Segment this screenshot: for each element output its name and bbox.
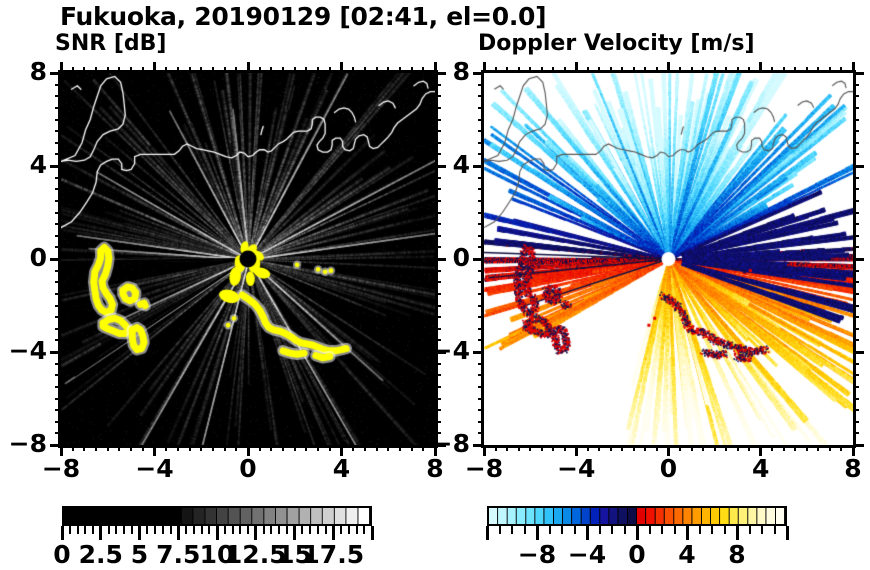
x-tick	[817, 67, 819, 73]
x-tick	[518, 67, 520, 73]
y-tick	[853, 386, 859, 388]
y-tick	[435, 421, 441, 423]
x-tick	[564, 445, 566, 451]
y-tick	[435, 293, 441, 295]
snr-colorbar-gradient	[62, 506, 372, 526]
x-tick	[633, 445, 635, 451]
y-tick	[478, 246, 484, 248]
x-tick-label: 0	[218, 454, 278, 483]
y-tick-label: 4	[0, 150, 47, 179]
y-tick-label: −8	[416, 429, 470, 458]
y-tick	[478, 398, 484, 400]
snr-colorbar-tick	[208, 526, 210, 534]
x-tick	[771, 445, 773, 451]
y-tick	[478, 421, 484, 423]
x-tick	[130, 445, 132, 451]
y-tick-label: 4	[416, 150, 470, 179]
doppler-colorbar-tick	[649, 526, 651, 534]
doppler-colorbar-tick	[686, 526, 689, 540]
snr-plot-panel[interactable]	[58, 70, 438, 448]
x-tick	[118, 67, 120, 73]
x-tick	[399, 67, 401, 73]
y-tick	[55, 200, 61, 202]
x-tick	[771, 67, 773, 73]
snr-colorbar[interactable]	[62, 506, 392, 526]
y-tick	[55, 177, 61, 179]
x-tick	[667, 62, 670, 73]
y-tick	[55, 293, 61, 295]
x-tick	[829, 445, 831, 451]
y-tick	[478, 339, 484, 341]
snr-colorbar-tick	[146, 526, 148, 534]
snr-colorbar-tick	[270, 526, 272, 534]
x-tick	[644, 445, 646, 451]
x-tick	[411, 445, 413, 451]
snr-colorbar-tick	[92, 526, 94, 534]
y-tick-label: 0	[0, 243, 47, 272]
x-tick	[118, 445, 120, 451]
snr-colorbar-tick	[131, 526, 133, 534]
x-tick	[541, 445, 543, 451]
y-tick	[55, 281, 61, 283]
x-tick	[107, 67, 109, 73]
y-tick	[55, 339, 61, 341]
y-tick	[853, 421, 859, 423]
y-tick	[853, 200, 859, 202]
doppler-colorbar-tick	[749, 526, 751, 534]
x-tick	[72, 445, 74, 451]
y-tick	[853, 328, 859, 330]
y-tick	[55, 363, 61, 365]
y-tick	[853, 142, 859, 144]
y-tick	[473, 258, 484, 261]
panel-title-snr: SNR [dB]	[55, 31, 166, 56]
y-tick-label: 0	[416, 243, 470, 272]
x-tick	[598, 445, 600, 451]
y-tick	[55, 223, 61, 225]
y-tick	[478, 374, 484, 376]
x-tick	[340, 62, 343, 73]
y-tick	[853, 235, 859, 237]
y-tick	[55, 270, 61, 272]
y-tick	[55, 235, 61, 237]
y-tick	[478, 107, 484, 109]
y-tick	[853, 72, 864, 75]
y-tick	[853, 177, 859, 179]
x-tick	[364, 445, 366, 451]
y-tick	[478, 212, 484, 214]
snr-colorbar-tick	[123, 526, 125, 534]
snr-colorbar-tick	[224, 526, 226, 534]
x-tick	[364, 67, 366, 73]
snr-colorbar-tick	[301, 526, 303, 534]
snr-colorbar-tick	[138, 526, 141, 540]
doppler-colorbar-tick	[636, 526, 639, 540]
y-tick	[478, 223, 484, 225]
x-tick	[387, 445, 389, 451]
y-tick	[55, 316, 61, 318]
x-tick	[247, 62, 250, 73]
x-tick	[737, 67, 739, 73]
y-tick	[435, 386, 441, 388]
x-tick-label: 4	[731, 454, 791, 483]
y-tick	[435, 200, 441, 202]
snr-colorbar-tick	[193, 526, 195, 534]
snr-colorbar-tick	[84, 526, 86, 534]
y-tick	[55, 84, 61, 86]
y-tick-label: −4	[416, 336, 470, 365]
x-tick	[200, 445, 202, 451]
snr-colorbar-tick	[154, 526, 156, 534]
y-tick	[55, 130, 61, 132]
snr-colorbar-tick	[185, 526, 187, 534]
y-tick	[473, 72, 484, 75]
snr-colorbar-tick	[317, 526, 319, 534]
x-tick	[691, 67, 693, 73]
x-tick	[806, 67, 808, 73]
y-tick	[478, 119, 484, 121]
x-tick	[518, 445, 520, 451]
panel-title-doppler: Doppler Velocity [m/s]	[478, 31, 755, 56]
x-tick	[189, 67, 191, 73]
doppler-colorbar-tick	[661, 526, 663, 534]
x-tick	[621, 445, 623, 451]
x-tick	[495, 67, 497, 73]
snr-radar-image	[61, 73, 435, 445]
y-tick	[55, 212, 61, 214]
x-tick	[702, 445, 704, 451]
snr-colorbar-tick	[162, 526, 164, 534]
y-tick	[853, 444, 864, 447]
x-tick	[725, 67, 727, 73]
x-tick-label: −4	[546, 454, 606, 483]
y-tick	[55, 119, 61, 121]
y-tick	[853, 409, 859, 411]
x-tick	[564, 67, 566, 73]
x-tick	[541, 67, 543, 73]
y-tick-label: 8	[0, 57, 47, 86]
x-tick	[294, 67, 296, 73]
doppler-colorbar-tick	[511, 526, 513, 534]
snr-colorbar-tick	[356, 526, 358, 534]
x-tick	[748, 67, 750, 73]
snr-colorbar-tick	[293, 526, 296, 540]
y-tick	[55, 386, 61, 388]
doppler-colorbar-tick	[524, 526, 526, 534]
y-tick	[55, 246, 61, 248]
x-tick	[212, 445, 214, 451]
x-tick	[259, 67, 261, 73]
x-tick	[691, 445, 693, 451]
x-tick	[411, 67, 413, 73]
y-tick	[435, 107, 441, 109]
x-tick	[748, 445, 750, 451]
x-tick	[587, 67, 589, 73]
x-tick	[817, 445, 819, 451]
doppler-colorbar-tick	[574, 526, 576, 534]
doppler-colorbar-tick	[724, 526, 726, 534]
x-tick-label: −4	[125, 454, 185, 483]
x-tick	[552, 445, 554, 451]
x-tick	[806, 445, 808, 451]
x-tick	[714, 445, 716, 451]
doppler-colorbar-tick	[561, 526, 563, 534]
x-tick-label: 8	[823, 454, 870, 483]
x-tick	[235, 67, 237, 73]
x-tick	[270, 445, 272, 451]
y-tick	[853, 374, 859, 376]
x-tick	[107, 445, 109, 451]
x-tick	[552, 67, 554, 73]
x-tick	[189, 445, 191, 451]
x-tick	[783, 67, 785, 73]
y-tick	[853, 258, 864, 261]
x-tick	[305, 445, 307, 451]
y-tick	[435, 305, 441, 307]
doppler-colorbar-label: 8	[703, 540, 771, 569]
x-tick	[495, 445, 497, 451]
x-tick	[352, 67, 354, 73]
x-tick	[506, 445, 508, 451]
doppler-colorbar-tick	[786, 526, 789, 540]
x-tick	[212, 67, 214, 73]
doppler-colorbar-tick	[499, 526, 501, 534]
x-tick	[224, 67, 226, 73]
doppler-colorbar-tick	[611, 526, 613, 534]
y-tick	[478, 270, 484, 272]
x-tick	[840, 67, 842, 73]
y-tick	[853, 130, 859, 132]
x-tick	[270, 67, 272, 73]
y-tick	[435, 328, 441, 330]
y-tick	[853, 398, 859, 400]
doppler-radar-image	[484, 73, 853, 445]
x-tick	[317, 67, 319, 73]
x-tick	[376, 445, 378, 451]
y-tick	[853, 165, 864, 168]
y-tick	[55, 95, 61, 97]
y-tick	[853, 246, 859, 248]
y-tick	[473, 444, 484, 447]
y-tick	[853, 223, 859, 225]
x-tick	[376, 67, 378, 73]
snr-colorbar-tick	[247, 526, 249, 534]
y-tick	[435, 212, 441, 214]
doppler-colorbar-tick	[549, 526, 551, 534]
y-tick-label: 8	[416, 57, 470, 86]
y-tick	[478, 153, 484, 155]
doppler-colorbar-tick	[486, 526, 489, 540]
y-tick	[435, 130, 441, 132]
y-tick	[435, 235, 441, 237]
x-tick	[83, 67, 85, 73]
x-tick	[83, 445, 85, 451]
y-tick	[435, 316, 441, 318]
x-tick	[587, 445, 589, 451]
snr-colorbar-tick	[69, 526, 71, 534]
doppler-colorbar-tick	[599, 526, 601, 534]
snr-colorbar-tick	[363, 526, 365, 534]
snr-colorbar-tick	[239, 526, 241, 534]
x-tick	[783, 445, 785, 451]
y-tick	[853, 339, 859, 341]
x-tick	[575, 62, 578, 73]
x-tick	[679, 445, 681, 451]
x-tick	[130, 67, 132, 73]
x-tick	[840, 445, 842, 451]
y-tick	[478, 305, 484, 307]
x-tick	[387, 67, 389, 73]
y-tick-label: −4	[0, 336, 47, 365]
x-tick	[702, 67, 704, 73]
x-tick	[644, 67, 646, 73]
doppler-colorbar-tick	[774, 526, 776, 534]
y-tick	[50, 444, 61, 447]
y-tick	[853, 153, 859, 155]
x-tick	[529, 445, 531, 451]
snr-colorbar-tick	[61, 526, 64, 540]
y-tick	[55, 142, 61, 144]
x-tick	[529, 67, 531, 73]
x-tick	[177, 67, 179, 73]
x-tick-label: 0	[639, 454, 699, 483]
snr-colorbar-tick	[348, 526, 350, 534]
y-tick	[853, 363, 859, 365]
y-tick	[853, 119, 859, 121]
y-tick	[50, 72, 61, 75]
y-tick	[478, 235, 484, 237]
y-tick	[853, 305, 859, 307]
y-tick	[478, 142, 484, 144]
x-tick	[142, 445, 144, 451]
y-tick	[55, 398, 61, 400]
y-tick	[473, 351, 484, 354]
y-tick	[55, 328, 61, 330]
y-tick	[435, 398, 441, 400]
x-tick	[506, 67, 508, 73]
x-tick	[305, 67, 307, 73]
snr-colorbar-label: 17.5	[299, 540, 367, 569]
snr-colorbar-tick	[325, 526, 327, 534]
snr-colorbar-tick	[340, 526, 342, 534]
snr-colorbar-tick	[263, 526, 265, 534]
y-tick	[55, 305, 61, 307]
x-tick	[829, 67, 831, 73]
y-tick	[50, 258, 61, 261]
x-tick	[317, 445, 319, 451]
y-tick	[55, 409, 61, 411]
snr-colorbar-tick	[170, 526, 172, 534]
x-tick	[656, 67, 658, 73]
x-tick	[177, 445, 179, 451]
y-tick	[478, 293, 484, 295]
doppler-colorbar[interactable]	[472, 506, 802, 526]
y-tick	[853, 95, 859, 97]
y-tick-label: −8	[0, 429, 47, 458]
snr-colorbar-tick	[108, 526, 110, 534]
x-tick	[633, 67, 635, 73]
doppler-colorbar-tick	[761, 526, 763, 534]
x-tick	[794, 445, 796, 451]
snr-colorbar-tick	[216, 526, 219, 540]
x-tick	[329, 445, 331, 451]
y-tick	[478, 386, 484, 388]
y-tick	[853, 281, 859, 283]
x-tick-label: 4	[312, 454, 372, 483]
x-tick	[282, 67, 284, 73]
y-tick	[435, 142, 441, 144]
snr-colorbar-tick	[99, 526, 102, 540]
x-tick	[95, 67, 97, 73]
x-tick	[610, 445, 612, 451]
snr-colorbar-tick	[278, 526, 280, 534]
x-tick	[598, 67, 600, 73]
x-tick	[621, 67, 623, 73]
y-tick	[435, 119, 441, 121]
x-tick	[165, 445, 167, 451]
doppler-colorbar-tick	[624, 526, 626, 534]
x-tick	[656, 445, 658, 451]
y-tick	[478, 363, 484, 365]
x-tick	[679, 67, 681, 73]
y-tick	[435, 409, 441, 411]
y-tick	[435, 374, 441, 376]
y-tick	[435, 188, 441, 190]
snr-colorbar-tick	[232, 526, 234, 534]
x-tick	[235, 445, 237, 451]
doppler-colorbar-tick	[711, 526, 713, 534]
y-tick	[478, 316, 484, 318]
y-tick	[853, 432, 859, 434]
y-tick	[50, 351, 61, 354]
x-tick	[294, 445, 296, 451]
y-tick	[478, 281, 484, 283]
x-tick	[352, 445, 354, 451]
y-tick	[478, 188, 484, 190]
y-tick	[55, 432, 61, 434]
y-tick	[55, 188, 61, 190]
snr-colorbar-tick	[77, 526, 79, 534]
doppler-colorbar-gradient	[487, 506, 787, 526]
x-tick	[329, 67, 331, 73]
doppler-colorbar-tick	[736, 526, 739, 540]
y-tick	[55, 153, 61, 155]
y-tick	[473, 165, 484, 168]
y-tick	[478, 177, 484, 179]
x-tick	[200, 67, 202, 73]
x-tick	[224, 445, 226, 451]
y-tick	[435, 223, 441, 225]
y-tick	[478, 95, 484, 97]
doppler-plot-panel[interactable]	[481, 70, 856, 448]
doppler-colorbar-tick	[699, 526, 701, 534]
page-title: Fukuoka, 20190129 [02:41, el=0.0]	[60, 2, 546, 31]
y-tick	[478, 130, 484, 132]
x-tick	[610, 67, 612, 73]
y-tick	[55, 374, 61, 376]
snr-colorbar-tick	[201, 526, 203, 534]
y-tick	[478, 200, 484, 202]
snr-colorbar-tick	[371, 526, 374, 540]
doppler-colorbar-tick	[586, 526, 589, 540]
x-tick	[794, 67, 796, 73]
x-tick	[759, 62, 762, 73]
x-tick	[95, 445, 97, 451]
x-tick	[737, 445, 739, 451]
snr-colorbar-tick	[309, 526, 311, 534]
x-tick	[282, 445, 284, 451]
x-tick	[142, 67, 144, 73]
